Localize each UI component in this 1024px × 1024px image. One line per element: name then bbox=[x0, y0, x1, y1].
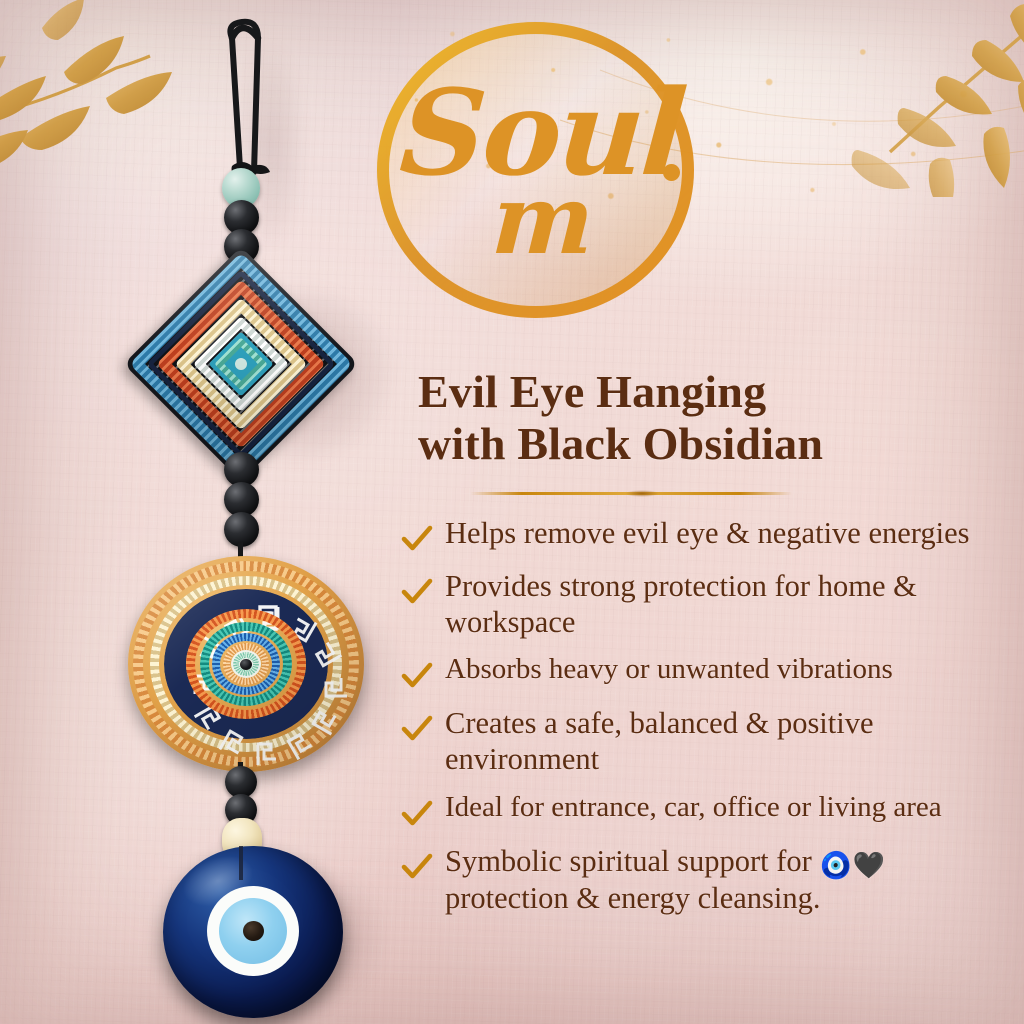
list-item-label: Symbolic spiritual support for 🧿🖤protect… bbox=[445, 844, 886, 917]
list-item-label: Helps remove evil eye & negative energie… bbox=[445, 516, 970, 552]
logo-dot bbox=[663, 164, 680, 181]
list-item: Absorbs heavy or unwanted vibrations bbox=[400, 653, 1024, 693]
list-item-label-part2: protection & energy cleansing. bbox=[445, 881, 821, 915]
checkmark-icon bbox=[400, 850, 434, 884]
brand-logo: Soul m bbox=[377, 22, 694, 318]
beaded-mandala-charm bbox=[128, 556, 364, 772]
hanging-cord-loop bbox=[196, 16, 316, 266]
list-item-label: Creates a safe, balanced & positive envi… bbox=[445, 706, 1024, 777]
diamond-sheen bbox=[124, 247, 359, 482]
checkmark-icon bbox=[400, 575, 434, 609]
list-item: Helps remove evil eye & negative energie… bbox=[400, 516, 1024, 556]
beaded-diamond-charm bbox=[130, 253, 352, 475]
list-item: Creates a safe, balanced & positive envi… bbox=[400, 706, 1024, 777]
cord-tail bbox=[239, 846, 243, 880]
checkmark-icon bbox=[400, 712, 434, 746]
nazar-and-heart-emoji: 🧿🖤 bbox=[819, 851, 886, 881]
checkmark-icon bbox=[400, 522, 434, 556]
headline-line-2: with Black Obsidian bbox=[418, 418, 1018, 470]
list-item-label: Ideal for entrance, car, office or livin… bbox=[445, 791, 942, 825]
list-item: Symbolic spiritual support for 🧿🖤protect… bbox=[400, 844, 1024, 917]
list-item-label-part1: Symbolic spiritual support for bbox=[445, 844, 819, 878]
list-item: Ideal for entrance, car, office or livin… bbox=[400, 791, 1024, 831]
gold-leaf-branch-top-right-icon bbox=[818, 0, 1024, 197]
nazar-pupil bbox=[243, 921, 264, 941]
gold-divider bbox=[470, 492, 792, 495]
page-title: Evil Eye Hanging with Black Obsidian bbox=[418, 366, 1018, 470]
list-item-label: Absorbs heavy or unwanted vibrations bbox=[445, 653, 893, 687]
list-item-label: Provides strong protection for home & wo… bbox=[445, 569, 1024, 640]
checkmark-icon bbox=[400, 797, 434, 831]
mandala-sheen bbox=[128, 556, 364, 772]
checkmark-icon bbox=[400, 659, 434, 693]
benefits-list: Helps remove evil eye & negative energie… bbox=[400, 516, 1024, 930]
headline-line-1: Evil Eye Hanging bbox=[418, 366, 766, 417]
nazar-evil-eye-pendant bbox=[163, 846, 343, 1018]
product-photo bbox=[0, 0, 400, 1024]
list-item: Provides strong protection for home & wo… bbox=[400, 569, 1024, 640]
logo-letter-m: m bbox=[470, 172, 615, 268]
product-marketing-banner: Soul m Evil Eye Hanging with Black Obsid… bbox=[0, 0, 1024, 1024]
